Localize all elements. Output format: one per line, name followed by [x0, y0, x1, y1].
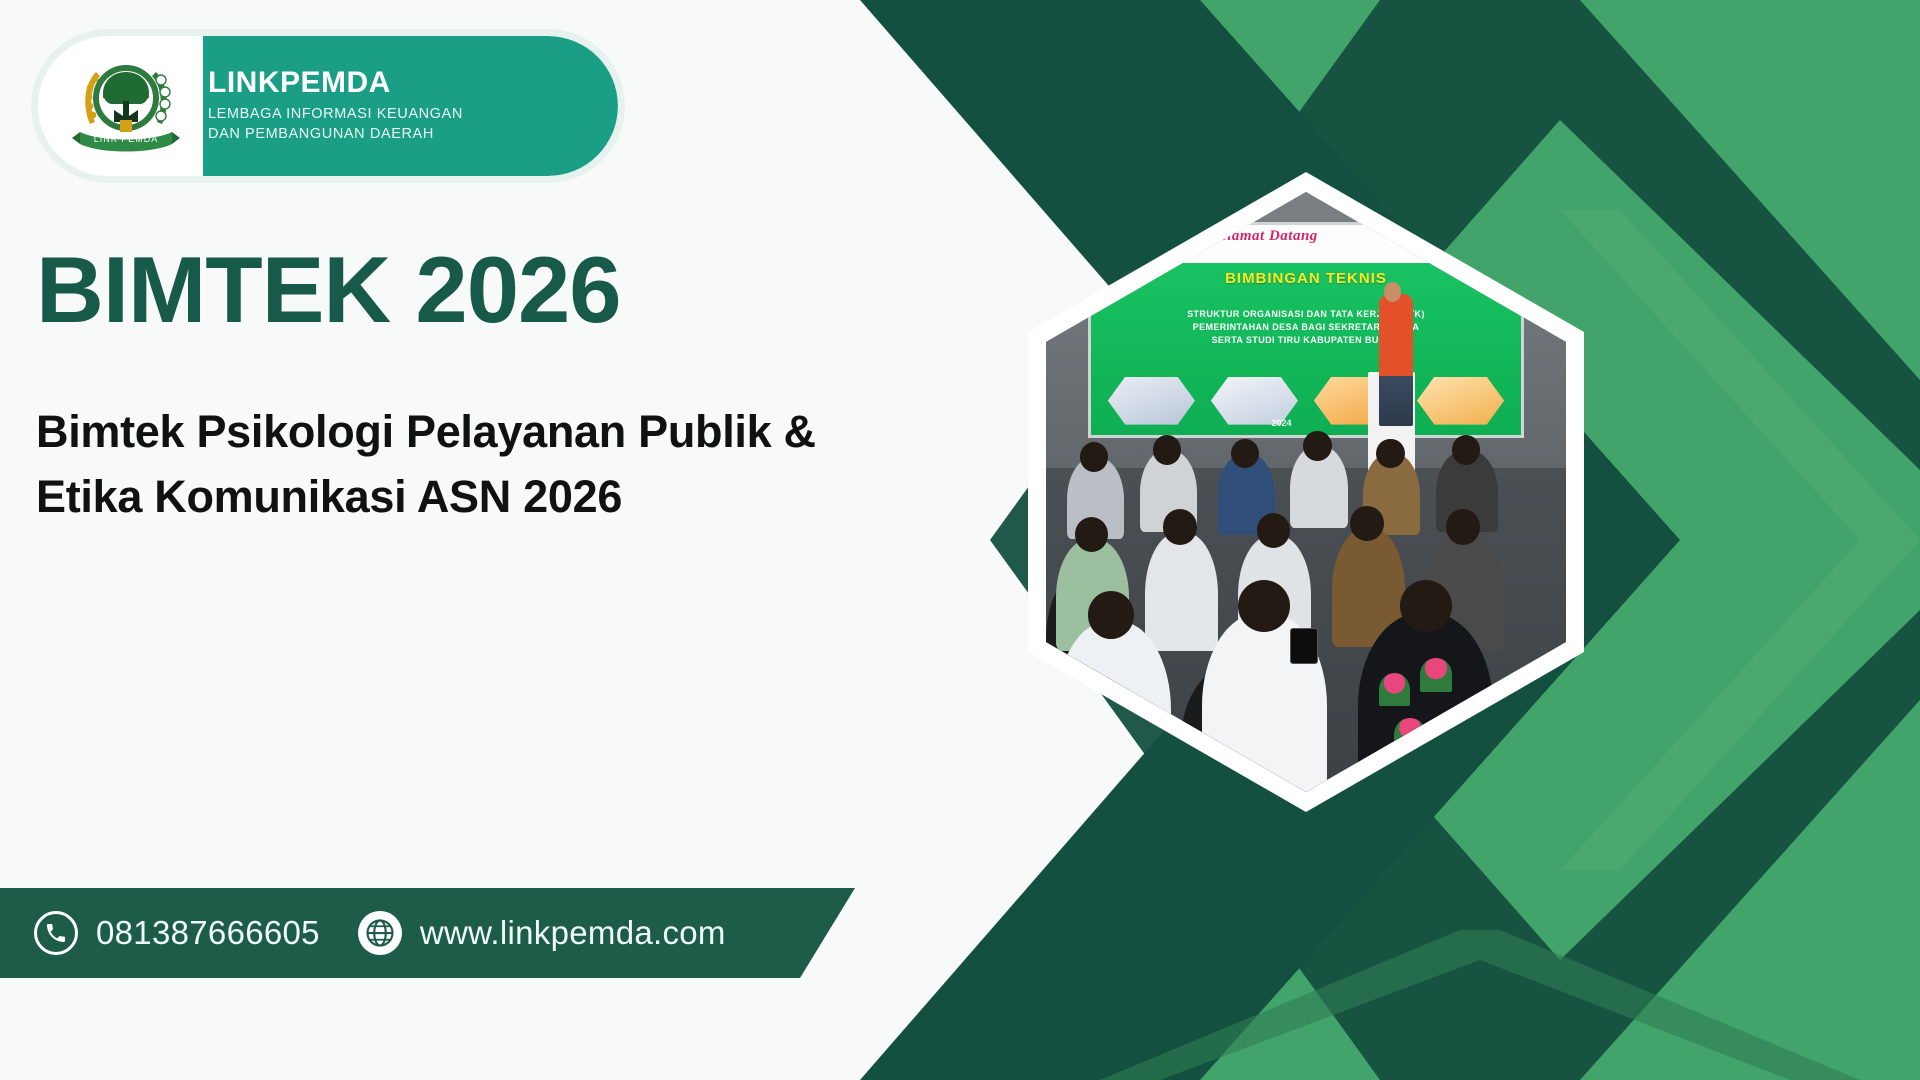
brand-tagline-line-2: DAN PEMBANGUNAN DAERAH	[208, 125, 463, 144]
decorative-panel: Selamat Datang BIMBINGAN TEKNIS STRUKTUR…	[860, 0, 1920, 1080]
floral-motif	[1420, 658, 1451, 691]
link-pemda-emblem-icon: LINK PEMDA	[66, 46, 186, 166]
audience-head	[1400, 580, 1452, 632]
presentation-screen: Selamat Datang BIMBINGAN TEKNIS STRUKTUR…	[1088, 222, 1525, 438]
audience-head	[1075, 517, 1109, 552]
brand-name: LINKPEMDA	[208, 68, 463, 98]
slide-subtitle-line-3: SERTA STUDI TIRU KABUPATEN BUNGO	[1099, 334, 1513, 347]
svg-text:LINK PEMDA: LINK PEMDA	[94, 134, 159, 144]
slide-chip-4	[1417, 377, 1504, 425]
contact-bar: 081387666605 www.linkpemda.com	[0, 888, 855, 978]
slide-logo-icon	[1134, 227, 1162, 249]
speaker-head	[1384, 282, 1401, 302]
slide-chip-1	[1108, 377, 1195, 425]
brand-text-block: LINKPEMDA LEMBAGA INFORMASI KEUANGAN DAN…	[208, 68, 463, 143]
page-title: BIMTEK 2026	[36, 243, 621, 337]
audience-rows	[1046, 420, 1566, 792]
contact-website[interactable]: www.linkpemda.com	[358, 911, 726, 955]
slide-header-band: Selamat Datang	[1091, 225, 1522, 263]
slide-body: BIMBINGAN TEKNIS STRUKTUR ORGANISASI DAN…	[1091, 263, 1522, 435]
slide-subtitle: STRUKTUR ORGANISASI DAN TATA KERJA (SOTK…	[1099, 308, 1513, 347]
audience-head	[1350, 506, 1384, 541]
website-url: www.linkpemda.com	[420, 914, 726, 952]
audience-person	[1145, 532, 1218, 651]
audience-head	[1452, 435, 1481, 465]
slide-subtitle-line-1: STRUKTUR ORGANISASI DAN TATA KERJA (SOTK…	[1099, 308, 1513, 321]
phone-number: 081387666605	[96, 914, 320, 952]
brand-tagline-line-1: LEMBAGA INFORMASI KEUANGAN	[208, 105, 463, 124]
hexagon-photo-frame: Selamat Datang BIMBINGAN TEKNIS STRUKTUR…	[1028, 172, 1584, 812]
speaker-figure	[1379, 294, 1413, 426]
audience-head	[1163, 509, 1197, 544]
audience-head	[1303, 431, 1332, 461]
floral-motif	[1379, 673, 1410, 706]
audience-head	[1153, 435, 1182, 465]
page-subtitle: Bimtek Psikologi Pelayanan Publik & Etik…	[36, 400, 866, 530]
brand-logo-banner: LINK PEMDA LINKPEMDA LEMBAGA INFORMASI K…	[38, 36, 618, 176]
slide-image-chips	[1108, 366, 1504, 425]
phone-icon	[34, 911, 78, 955]
slide-subtitle-line-2: PEMERINTAHAN DESA BAGI SEKRETARIS DESA	[1099, 321, 1513, 334]
poster-canvas: Selamat Datang BIMBINGAN TEKNIS STRUKTUR…	[0, 0, 1920, 1080]
globe-icon	[358, 911, 402, 955]
audience-head	[1446, 509, 1480, 544]
contact-phone[interactable]: 081387666605	[34, 911, 320, 955]
audience-head	[1376, 439, 1405, 469]
smartphone	[1290, 628, 1318, 663]
